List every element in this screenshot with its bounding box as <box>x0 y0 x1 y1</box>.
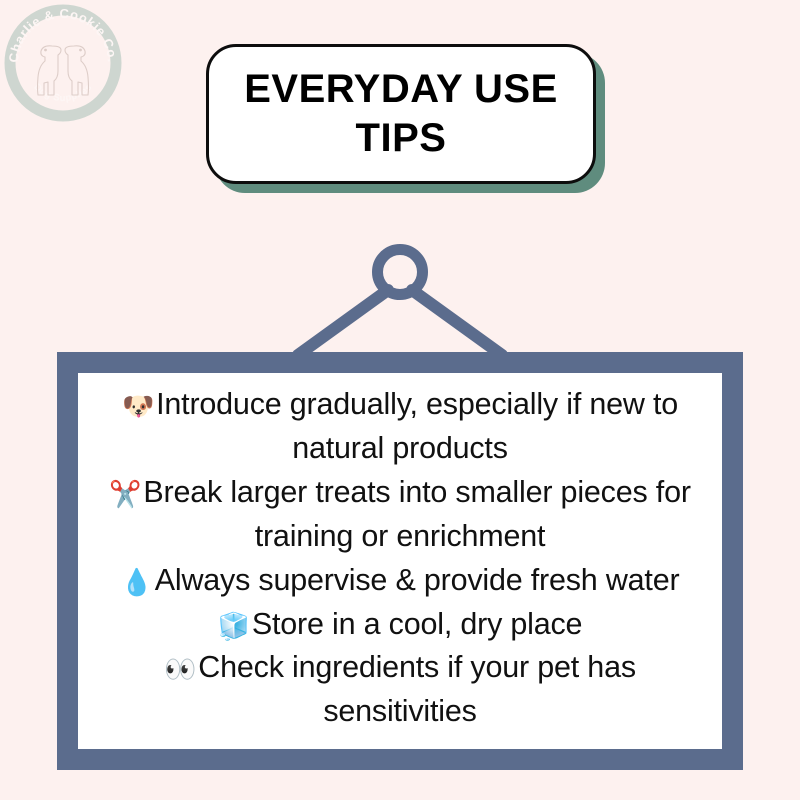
eyes-icon: 👀 <box>164 654 196 684</box>
tip-text: Introduce gradually, especially if new t… <box>156 387 678 465</box>
hanger-hook <box>280 238 520 368</box>
infographic-canvas: Charlie & Cookie Co. Dog Supplies EVERYD… <box>0 0 800 800</box>
logo-brand-bottom: Dog Supplies <box>31 82 94 104</box>
title-banner-card: EVERYDAY USE TIPS <box>206 44 596 184</box>
logo-brand-top: Charlie & Cookie Co. <box>6 6 120 63</box>
hanger-arm-right <box>412 290 502 355</box>
tip-item: 🐶Introduce gradually, especially if new … <box>86 383 714 471</box>
scissors-icon: ✂️ <box>109 479 141 509</box>
page-title: EVERYDAY USE TIPS <box>222 65 580 163</box>
tip-item: ✂️Break larger treats into smaller piece… <box>86 471 714 559</box>
tips-list: 🐶Introduce gradually, especially if new … <box>78 383 722 734</box>
tip-item: 👀Check ingredients if your pet has sensi… <box>86 646 714 734</box>
tip-item: 🧊Store in a cool, dry place <box>86 603 714 647</box>
tip-text: Store in a cool, dry place <box>252 607 582 641</box>
title-banner: EVERYDAY USE TIPS <box>206 44 596 184</box>
hanger-arm-left <box>298 290 388 355</box>
tip-text: Check ingredients if your pet has sensit… <box>198 650 636 728</box>
dog-face-icon: 🐶 <box>122 391 154 421</box>
brand-logo: Charlie & Cookie Co. Dog Supplies <box>4 4 122 122</box>
tip-item: 💧Always supervise & provide fresh water <box>86 559 714 603</box>
ice-cube-icon: 🧊 <box>218 611 250 641</box>
tip-text: Always supervise & provide fresh water <box>155 563 680 597</box>
tip-text: Break larger treats into smaller pieces … <box>143 475 690 553</box>
brand-logo-svg: Charlie & Cookie Co. Dog Supplies <box>4 4 122 122</box>
water-droplet-icon: 💧 <box>121 567 153 597</box>
tips-board: 🐶Introduce gradually, especially if new … <box>57 352 743 770</box>
hanger-hook-svg <box>280 238 520 368</box>
